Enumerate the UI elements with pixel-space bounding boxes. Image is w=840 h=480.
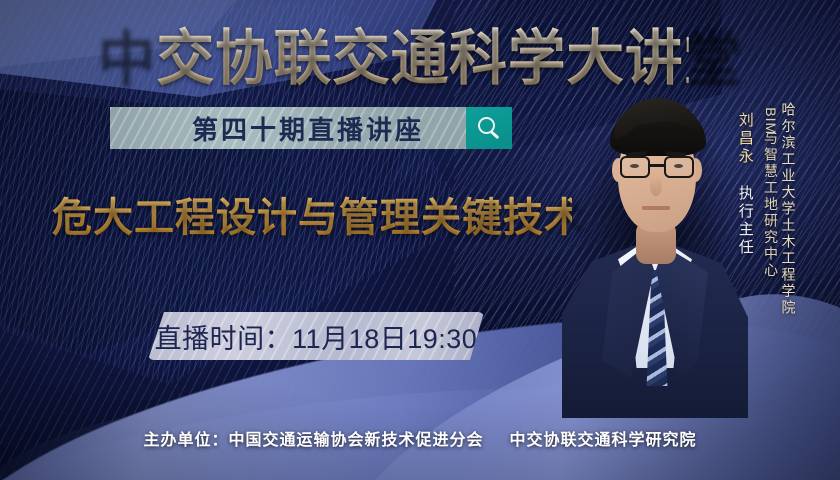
speaker-name: 刘昌永 bbox=[735, 112, 755, 166]
lecture-headline: 危大工程设计与管理关键技术 bbox=[52, 186, 572, 242]
glasses-lens-left-icon bbox=[620, 156, 650, 178]
speaker-role: 执行主任 bbox=[735, 185, 755, 257]
episode-banner: 第四十期直播讲座 bbox=[110, 107, 512, 149]
footer-organizer: 主办单位：中国交通运输协会新技术促进分会 bbox=[143, 426, 483, 450]
search-icon bbox=[478, 117, 500, 139]
portrait-mouth bbox=[642, 206, 670, 210]
speaker-research-center: BIM与智慧工地研究中心 bbox=[757, 112, 785, 279]
glasses-bridge-icon bbox=[650, 164, 664, 167]
live-lecture-poster: 中交协联交通科学大讲堂 第四十期直播讲座 危大工程设计与管理关键技术 直播时间：… bbox=[0, 0, 840, 480]
broadcast-time-chip: 直播时间：11月18日19:30 bbox=[148, 312, 484, 360]
footer-organizers: 主办单位：中国交通运输协会新技术促进分会 中交协联交通科学研究院 bbox=[0, 424, 840, 452]
broadcast-time-text: 直播时间：11月18日19:30 bbox=[155, 317, 478, 356]
glasses-lens-right-icon bbox=[664, 156, 694, 178]
search-button[interactable] bbox=[466, 107, 512, 149]
page-title: 中交协联交通科学大讲堂 bbox=[151, 18, 689, 88]
episode-label: 第四十期直播讲座 bbox=[152, 110, 424, 147]
footer-co-organizer: 中交协联交通科学研究院 bbox=[510, 426, 697, 450]
episode-banner-bar: 第四十期直播讲座 bbox=[110, 107, 466, 149]
portrait-nose bbox=[650, 176, 662, 196]
research-center-suffix: 与智慧工地研究中心 bbox=[763, 130, 779, 279]
speaker-portrait bbox=[560, 80, 750, 410]
bim-acronym: BIM bbox=[762, 107, 780, 135]
